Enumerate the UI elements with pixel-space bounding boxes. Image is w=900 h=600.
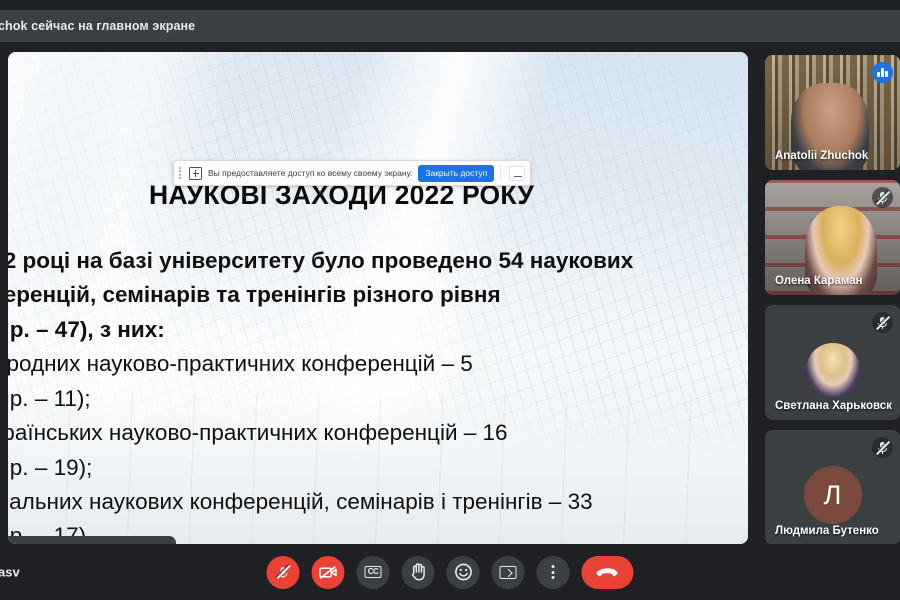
mic-muted-icon xyxy=(872,312,893,333)
participant-name: Anatolii Zhuchok xyxy=(775,150,868,162)
microphone-off-button[interactable] xyxy=(267,556,300,589)
slide-line: всеукраїнських науково-практичних конфер… xyxy=(8,416,748,450)
drag-handle-icon[interactable] xyxy=(177,167,183,180)
participant-name: Олена Караман xyxy=(775,275,863,287)
call-controls: CC xyxy=(267,556,634,589)
slide-line: міжнародних науково-практичних конференц… xyxy=(8,347,748,381)
emoji-smile-icon xyxy=(454,563,472,581)
raise-hand-button[interactable] xyxy=(402,556,435,589)
divider xyxy=(500,165,501,181)
share-message: Вы предоставляете доступ ко всему своему… xyxy=(208,168,412,178)
participant-tile[interactable]: Л Людмила Бутенко xyxy=(765,430,900,545)
more-options-button[interactable] xyxy=(537,556,570,589)
end-call-button[interactable] xyxy=(582,556,634,589)
mic-muted-icon xyxy=(277,566,290,579)
slide-line: (2021 р. – 11); xyxy=(8,382,748,416)
camera-off-button[interactable] xyxy=(312,556,345,589)
mic-muted-icon xyxy=(872,437,893,458)
captions-button[interactable]: CC xyxy=(357,556,390,589)
minimize-icon[interactable] xyxy=(509,166,525,181)
participant-left-toast: й покидает встречу xyxy=(8,536,176,544)
three-dots-icon xyxy=(552,565,555,579)
screen-share-notification-bar[interactable]: Вы предоставляете доступ ко всему своему… xyxy=(173,160,531,186)
present-screen-icon xyxy=(189,167,202,180)
mic-muted-icon xyxy=(872,187,893,208)
presenting-banner: chok сейчас на главном экране xyxy=(0,10,900,42)
slide-line: (2021 р. – 47), з них: xyxy=(8,313,748,347)
audio-level-icon xyxy=(872,62,893,83)
participant-rail: Anatolii Zhuchok Олена Караман Светлана … xyxy=(765,55,900,555)
present-screen-button[interactable] xyxy=(492,556,525,589)
slide-line: регіональних наукових конференцій, семін… xyxy=(8,485,748,519)
participant-name: Людмила Бутенко xyxy=(775,525,879,537)
slide-line: (2021 р. – 19); xyxy=(8,451,748,485)
bottom-toolbar: asv CC xyxy=(0,544,900,600)
present-screen-icon xyxy=(500,566,517,579)
participant-tile[interactable]: Светлана Харьковск… xyxy=(765,305,900,420)
camera-off-icon xyxy=(319,565,338,580)
raised-hand-icon xyxy=(410,563,426,581)
meeting-code-label: asv xyxy=(0,565,20,580)
reactions-button[interactable] xyxy=(447,556,480,589)
avatar xyxy=(806,343,860,397)
stop-sharing-button[interactable]: Закрыть доступ xyxy=(418,165,494,182)
slide-line: У 2022 році на базі університету було пр… xyxy=(8,244,748,278)
phone-hangup-icon xyxy=(596,566,620,578)
slide-body: У 2022 році на базі університету було пр… xyxy=(8,244,748,544)
meeting-app: chok сейчас на главном экране НАУКОВІ ЗА… xyxy=(0,0,900,600)
participant-tile[interactable]: Олена Караман xyxy=(765,180,900,295)
avatar: Л xyxy=(804,466,862,524)
participant-name: Светлана Харьковск… xyxy=(775,400,893,412)
participant-tile[interactable]: Anatolii Zhuchok xyxy=(765,55,900,170)
presenting-banner-text: chok сейчас на главном экране xyxy=(0,19,195,33)
shared-screen-stage[interactable]: НАУКОВІ ЗАХОДИ 2022 РОКУ У 2022 році на … xyxy=(8,52,748,544)
closed-captions-icon: CC xyxy=(365,566,382,578)
slide-line: конференцій, семінарів та тренінгів різн… xyxy=(8,278,748,312)
